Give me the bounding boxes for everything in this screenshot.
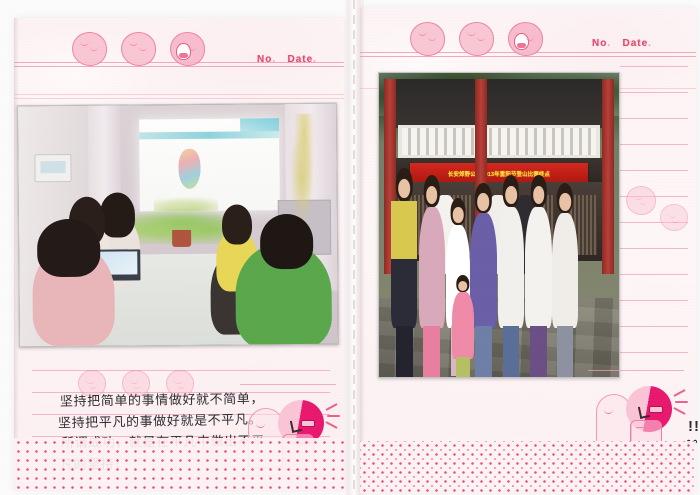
right-no-label: No bbox=[592, 38, 607, 49]
right-polka-dot-band bbox=[360, 441, 696, 493]
left-page-header: No. Date. bbox=[14, 18, 344, 80]
right-header-blobs bbox=[410, 22, 543, 56]
person bbox=[552, 213, 578, 329]
right-date-dot: . bbox=[648, 38, 652, 49]
blob-face-2-icon bbox=[121, 32, 156, 66]
blob-face-1-icon bbox=[72, 32, 107, 66]
mascot-exclamation: !!! bbox=[688, 418, 700, 435]
right-no-date-label: No. Date. bbox=[592, 38, 652, 49]
right-no-dot: . bbox=[607, 38, 611, 49]
person bbox=[391, 201, 417, 329]
projector-screen bbox=[139, 119, 280, 211]
left-date-label: Date bbox=[287, 54, 313, 65]
person bbox=[498, 207, 524, 329]
right-page-header: No. Date. bbox=[360, 8, 696, 70]
right-page: No. Date. bbox=[360, 8, 696, 493]
left-no-label: No bbox=[257, 54, 272, 65]
person bbox=[419, 207, 445, 329]
blob-face-1-icon bbox=[410, 22, 445, 56]
left-page: No. Date. bbox=[14, 18, 344, 490]
left-polka-dot-band bbox=[14, 438, 344, 490]
left-no-dot: . bbox=[272, 54, 276, 65]
wall-panel bbox=[34, 154, 71, 183]
person bbox=[525, 207, 551, 329]
classroom-photo[interactable] bbox=[17, 103, 339, 348]
scanned-spread: No. Date. bbox=[0, 0, 700, 495]
park-group-photo[interactable]: 长安郊野公园2013年重阳节登山比赛终点 bbox=[378, 72, 620, 378]
right-page-edge bbox=[360, 8, 365, 493]
right-blob-decor-1-icon bbox=[626, 186, 656, 215]
right-date-label: Date bbox=[622, 38, 648, 49]
blob-face-open-mouth-icon bbox=[170, 32, 205, 66]
blob-face-open-mouth-icon bbox=[508, 22, 543, 56]
child bbox=[452, 292, 474, 359]
right-blob-decor-2-icon bbox=[660, 204, 688, 231]
person bbox=[470, 213, 496, 329]
classroom-scene bbox=[18, 104, 338, 347]
blob-face-2-icon bbox=[459, 22, 494, 56]
left-no-date-label: No. Date. bbox=[257, 54, 317, 65]
park-scene: 长安郊野公园2013年重阳节登山比赛终点 bbox=[379, 73, 619, 377]
left-header-blobs bbox=[72, 32, 205, 66]
left-date-dot: . bbox=[313, 54, 317, 65]
